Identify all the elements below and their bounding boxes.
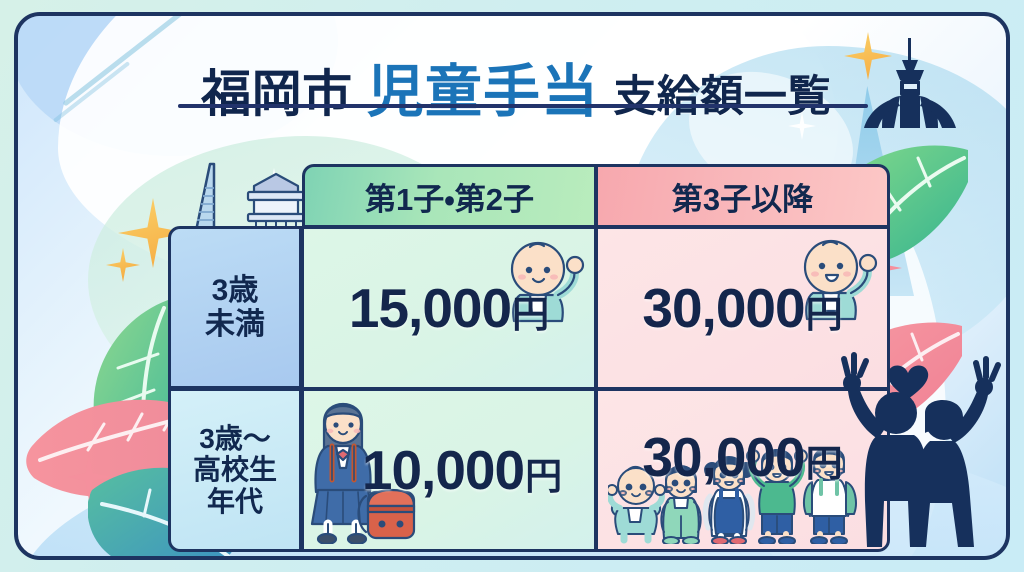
infographic-poster: 福岡市 児童手当 支給額一覧 bbox=[0, 0, 1024, 572]
row-label-under-three: 3歳 未満 bbox=[168, 226, 302, 389]
row-label-under-three-line2: 未満 bbox=[205, 308, 265, 342]
amount-value: 30,000 bbox=[642, 277, 804, 339]
amount-under-three-first-second: 15,000円 bbox=[349, 276, 549, 340]
cell-under-three-first-second: 15,000円 bbox=[302, 226, 596, 389]
amount-value: 30,000 bbox=[642, 426, 804, 488]
title-suffix: 支給額一覧 bbox=[613, 73, 831, 121]
row-label-three-to-highschool-line1: 3歳～ bbox=[193, 423, 277, 454]
amount-three-to-highschool-third-onward: 30,000円 bbox=[642, 425, 842, 489]
table-header-row: 第1子・第2子 第3子以降 bbox=[302, 164, 890, 228]
title-prefix: 福岡市 bbox=[201, 66, 353, 122]
benefit-amount-table: 第1子・第2子 第3子以降 3歳 未満 bbox=[168, 164, 890, 552]
row-label-three-to-highschool: 3歳～ 高校生 年代 bbox=[168, 389, 302, 552]
title-highlight: 児童手当 bbox=[367, 60, 599, 124]
amount-unit: 円 bbox=[525, 456, 562, 497]
fukuoka-tower-silhouette-icon bbox=[856, 36, 964, 141]
amount-unit: 円 bbox=[806, 294, 843, 335]
amount-under-three-third-onward: 30,000円 bbox=[642, 276, 842, 340]
column-header-first-second-child: 第1子・第2子 bbox=[302, 164, 596, 228]
row-label-three-to-highschool-line2: 高校生 bbox=[193, 454, 277, 485]
poster-card: 福岡市 児童手当 支給額一覧 bbox=[14, 12, 1010, 560]
amount-value: 10,000 bbox=[362, 439, 524, 501]
title-underline bbox=[178, 104, 868, 108]
celebrating-couple-silhouette-icon bbox=[834, 351, 1002, 556]
sparkle-yellow-small-icon bbox=[106, 248, 140, 282]
row-label-under-three-line1: 3歳 bbox=[205, 274, 265, 308]
amount-three-to-highschool-first-second: 10,000円 bbox=[362, 438, 562, 502]
table-body: 3歳 未満 bbox=[168, 226, 890, 552]
amount-unit: 円 bbox=[512, 294, 549, 335]
column-header-third-child-onward: 第3子以降 bbox=[596, 164, 890, 228]
row-label-three-to-highschool-line3: 年代 bbox=[193, 486, 277, 517]
amount-value: 15,000 bbox=[349, 277, 511, 339]
cell-three-to-highschool-first-second: 10,000円 bbox=[302, 389, 596, 552]
